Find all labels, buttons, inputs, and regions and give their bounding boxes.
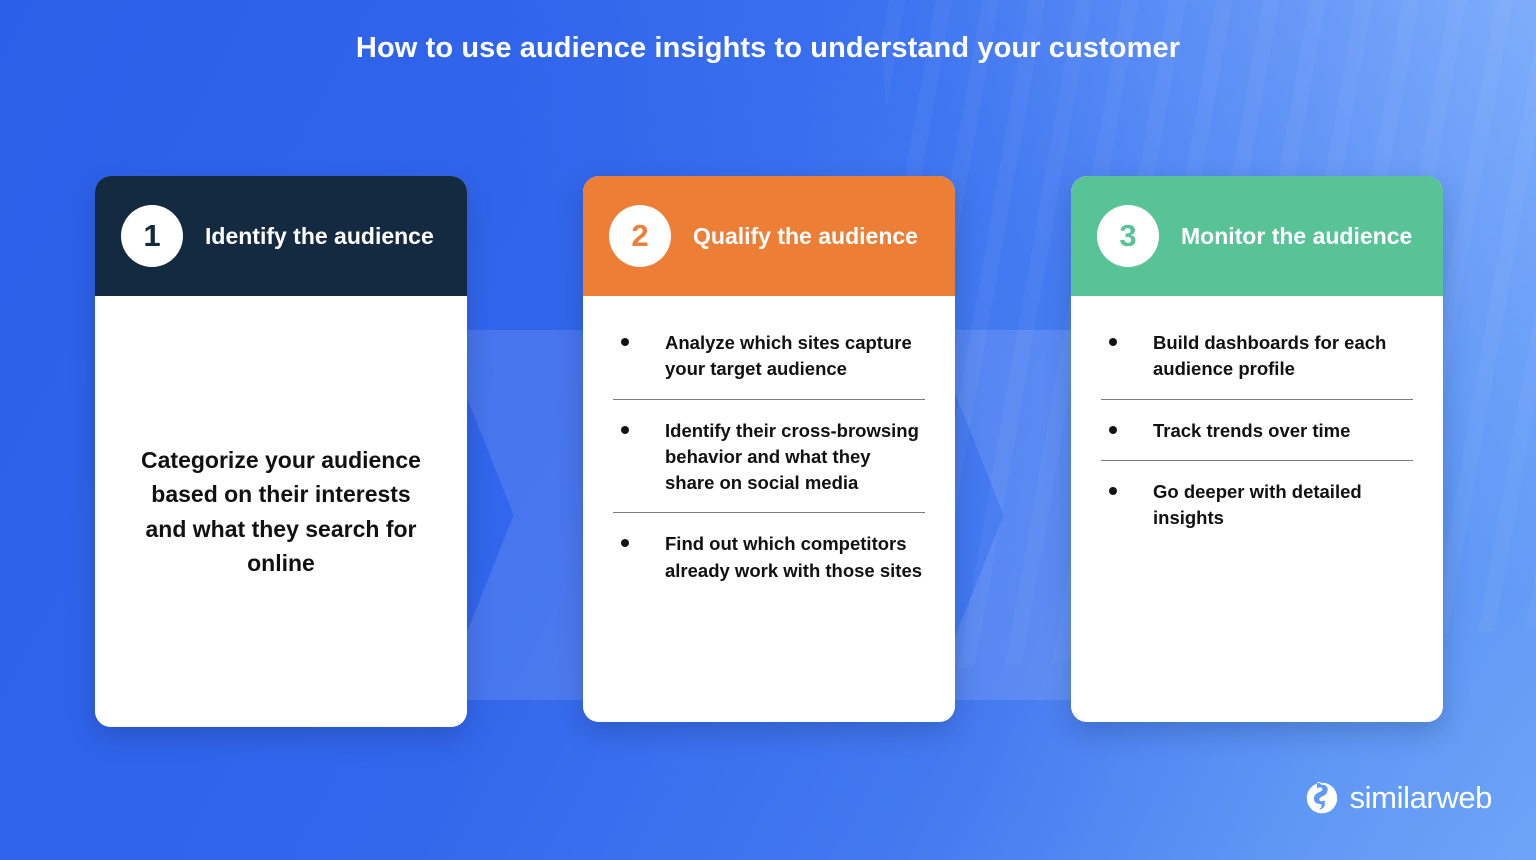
step-card-1: 1 Identify the audience Categorize your …: [95, 176, 467, 727]
bullet-text: Build dashboards for each audience profi…: [1153, 330, 1413, 383]
list-item: Analyze which sites capture your target …: [613, 330, 925, 400]
bullet-text: Analyze which sites capture your target …: [665, 330, 925, 383]
infographic-canvas: How to use audience insights to understa…: [0, 0, 1536, 860]
similarweb-swirl-icon: [1306, 782, 1338, 814]
card-list: 1 Identify the audience Categorize your …: [95, 176, 1443, 727]
bullet-dot-icon: [1109, 426, 1117, 434]
step-card-3: 3 Monitor the audience Build dashboards …: [1071, 176, 1443, 722]
step-card-2-header: 2 Qualify the audience: [583, 176, 955, 296]
step-card-2: 2 Qualify the audience Analyze which sit…: [583, 176, 955, 722]
bullet-text: Go deeper with detailed insights: [1153, 479, 1413, 532]
step-card-1-body: Categorize your audience based on their …: [95, 296, 467, 727]
step-card-1-title: Identify the audience: [205, 220, 434, 253]
step-card-1-header: 1 Identify the audience: [95, 176, 467, 296]
step-card-1-paragraph-wrap: Categorize your audience based on their …: [95, 296, 467, 727]
list-item: Identify their cross-browsing behavior a…: [613, 418, 925, 514]
step-card-2-title: Qualify the audience: [693, 220, 918, 253]
step-card-3-title: Monitor the audience: [1181, 220, 1412, 253]
step-card-3-body: Build dashboards for each audience profi…: [1071, 296, 1443, 722]
list-item: Find out which competitors already work …: [613, 531, 925, 600]
bullet-text: Track trends over time: [1153, 418, 1350, 444]
list-item: Build dashboards for each audience profi…: [1101, 330, 1413, 400]
step-number-badge-3: 3: [1097, 205, 1159, 267]
similarweb-logo-text: similarweb: [1350, 780, 1492, 816]
bullet-dot-icon: [621, 539, 629, 547]
step-card-2-body: Analyze which sites capture your target …: [583, 296, 955, 722]
page-title: How to use audience insights to understa…: [0, 32, 1536, 65]
step-number-badge-1: 1: [121, 205, 183, 267]
list-item: Track trends over time: [1101, 418, 1413, 461]
step-card-1-paragraph: Categorize your audience based on their …: [131, 443, 431, 579]
bullet-dot-icon: [1109, 338, 1117, 346]
bullet-text: Find out which competitors already work …: [665, 531, 925, 584]
list-item: Go deeper with detailed insights: [1101, 479, 1413, 548]
step-number-badge-2: 2: [609, 205, 671, 267]
step-card-2-bullet-list: Analyze which sites capture your target …: [583, 296, 955, 600]
bullet-dot-icon: [1109, 487, 1117, 495]
bullet-text: Identify their cross-browsing behavior a…: [665, 418, 925, 497]
step-card-3-bullet-list: Build dashboards for each audience profi…: [1071, 296, 1443, 547]
step-card-3-header: 3 Monitor the audience: [1071, 176, 1443, 296]
bullet-dot-icon: [621, 426, 629, 434]
similarweb-logo: similarweb: [1306, 780, 1492, 816]
bullet-dot-icon: [621, 338, 629, 346]
